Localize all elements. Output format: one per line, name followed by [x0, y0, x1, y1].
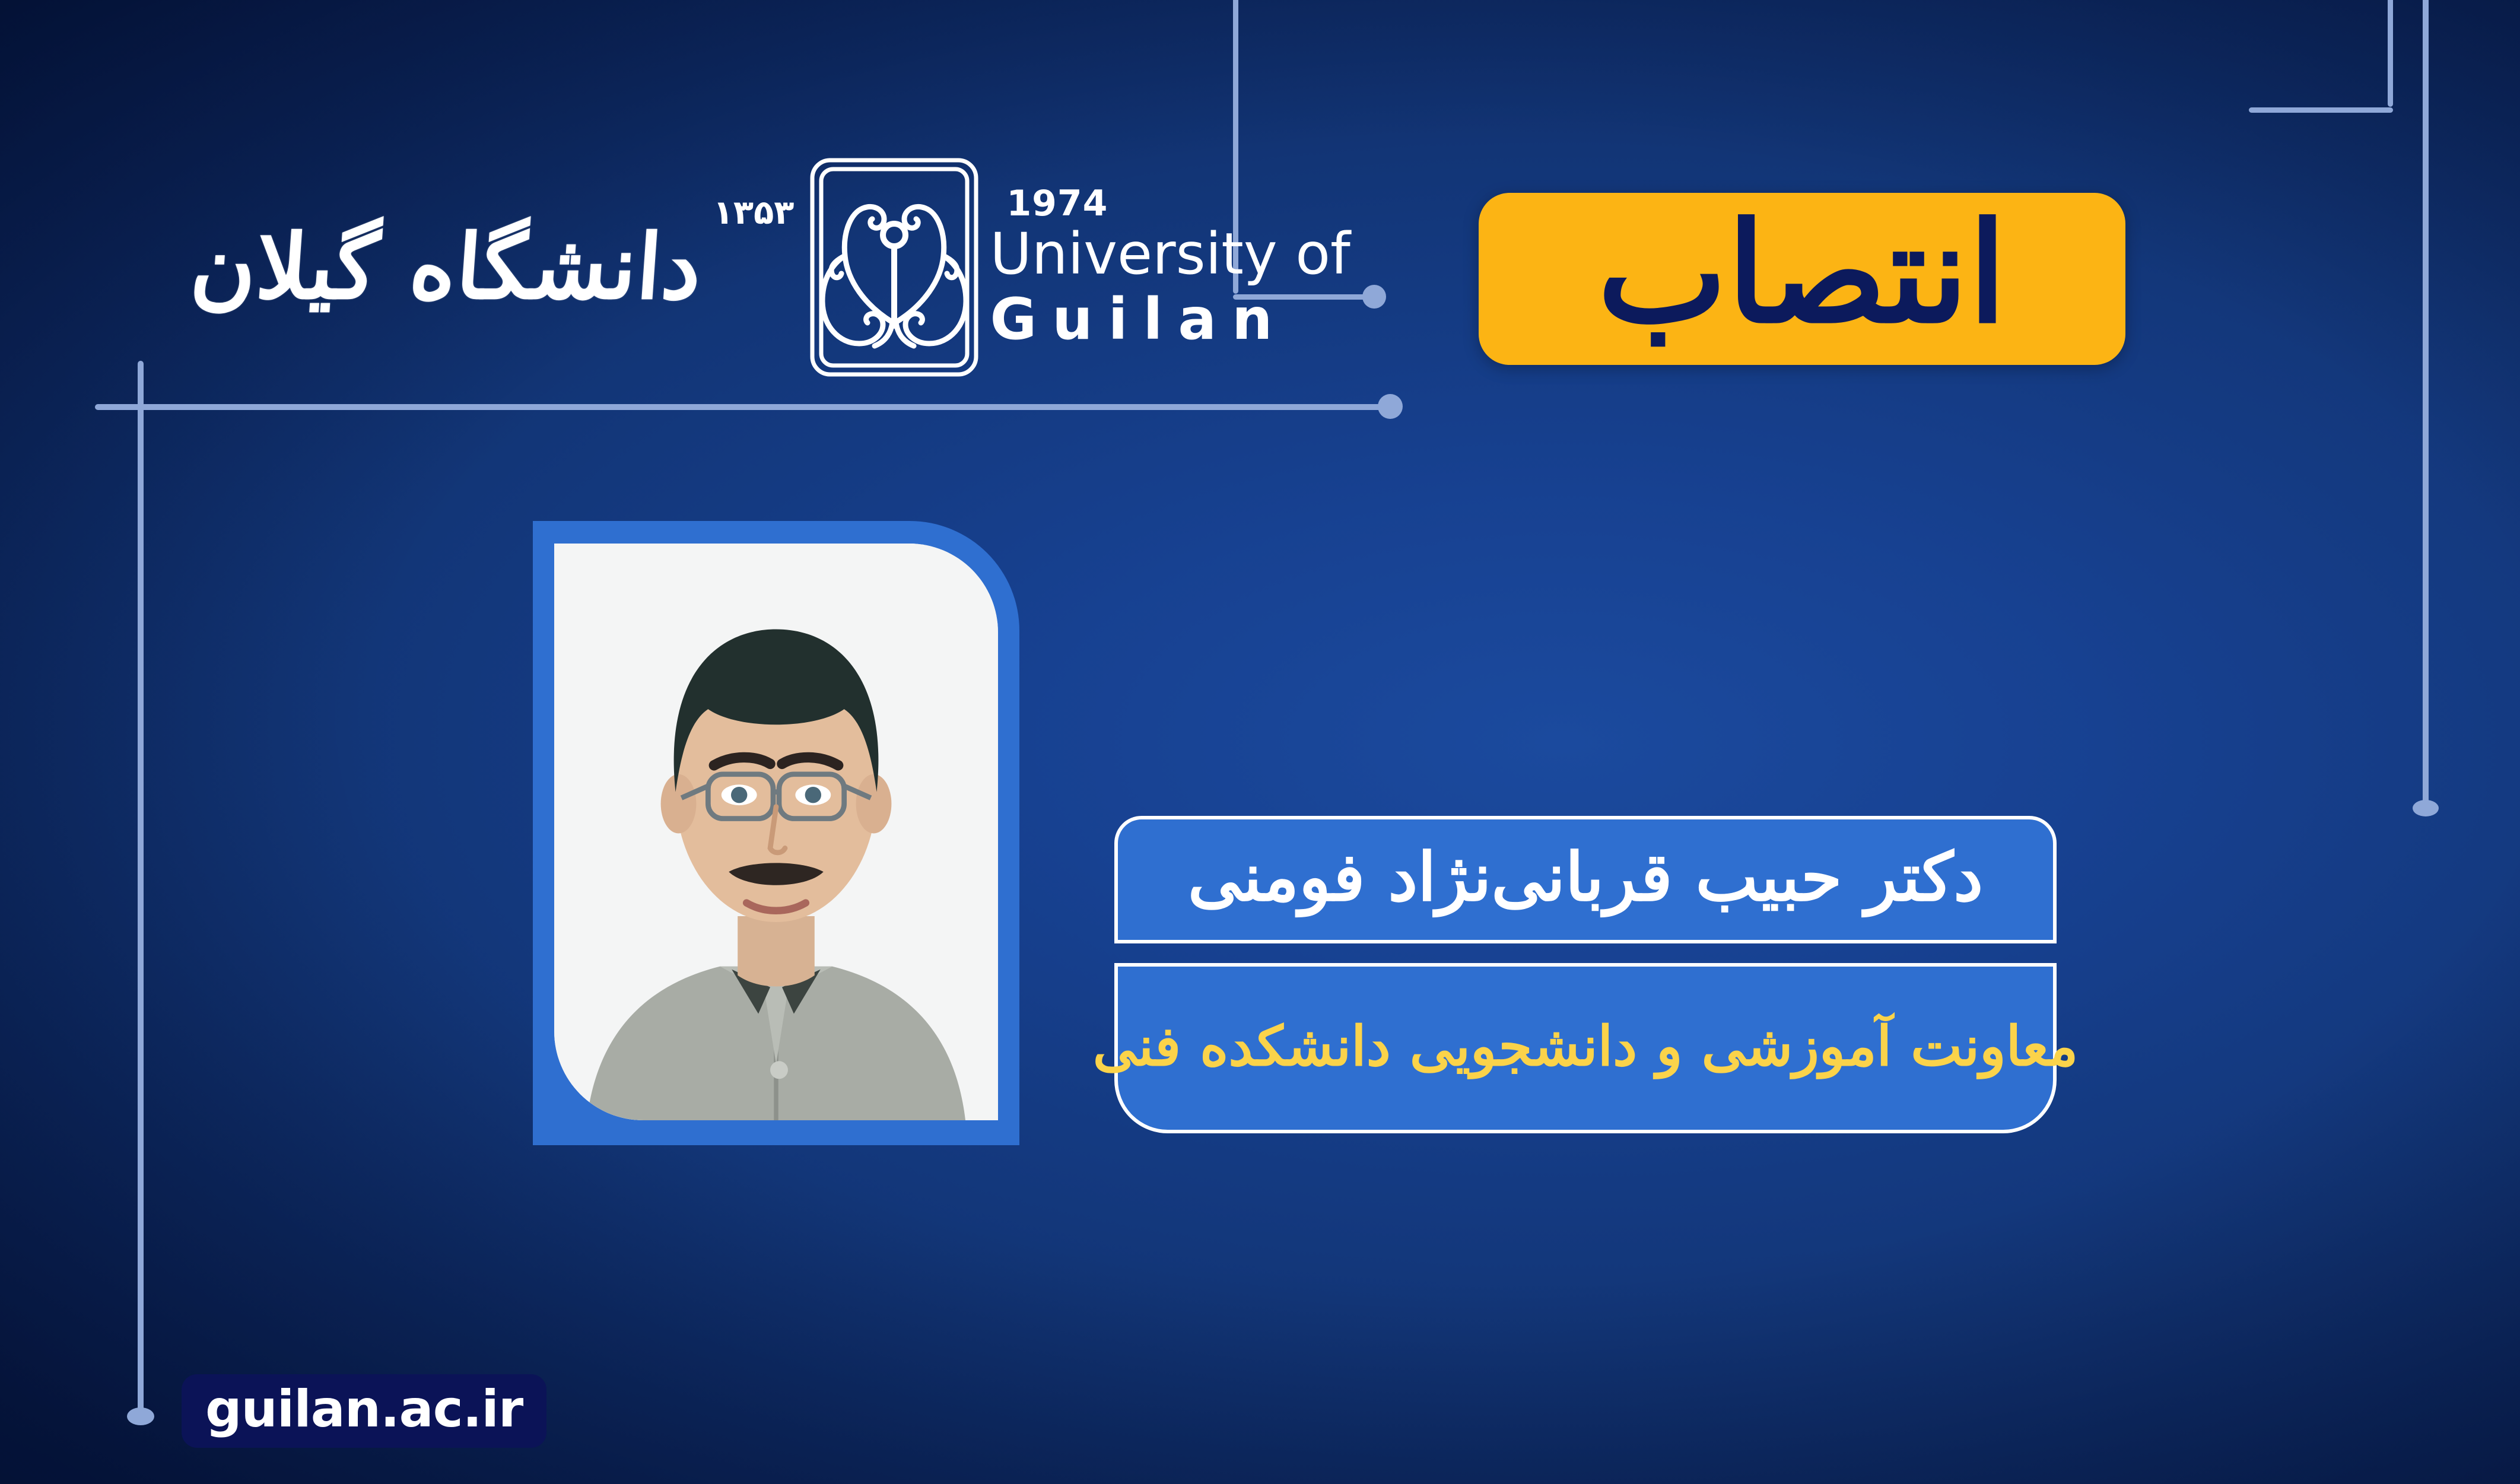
logo-english-year: 1974 — [1006, 183, 1108, 224]
logo-english-line1: University of — [990, 225, 1350, 284]
person-name: دکتر حبیب قربانی‌نژاد فومنی — [1188, 844, 1983, 911]
decorative-line-under-logo — [95, 404, 1394, 410]
logo-persian-year: ۱۳۵۳ — [713, 193, 795, 232]
website-badge[interactable]: guilan.ac.ir — [182, 1374, 546, 1448]
logo-persian-name: دانشگاه گیلان — [188, 223, 704, 312]
portrait-photo — [554, 544, 998, 1120]
logo-english-lockup: 1974 University of Guilan — [990, 183, 1350, 351]
decorative-line-right-horizontal — [2249, 107, 2393, 113]
decorative-dot-left-bottom — [127, 1407, 154, 1425]
person-position: معاونت آموزشی و دانشجویی دانشکده فنی — [1093, 1019, 2079, 1073]
headline-badge: انتصاب — [1479, 193, 2125, 365]
decorative-line-far-right-vertical — [2423, 0, 2429, 806]
decorative-dot-top — [1362, 285, 1386, 309]
decorative-dot-under-logo — [1378, 394, 1403, 419]
university-logo: دانشگاه گیلان ۱۳۵۳ 1974 — [178, 142, 1234, 392]
person-position-banner: معاونت آموزشی و دانشجویی دانشکده فنی — [1114, 963, 2057, 1133]
website-url: guilan.ac.ir — [205, 1384, 523, 1435]
butterfly-emblem-icon — [808, 156, 980, 379]
portrait-frame — [533, 521, 1019, 1145]
decorative-dot-far-right — [2413, 800, 2439, 816]
headline-text: انتصاب — [1597, 211, 2006, 335]
decorative-line-right-vertical-short — [2388, 0, 2393, 107]
appointment-poster: دانشگاه گیلان ۱۳۵۳ 1974 — [0, 0, 2520, 1484]
person-name-banner: دکتر حبیب قربانی‌نژاد فومنی — [1114, 816, 2057, 943]
decorative-line-left-vertical — [138, 361, 144, 1423]
logo-english-line2: Guilan — [990, 288, 1288, 351]
